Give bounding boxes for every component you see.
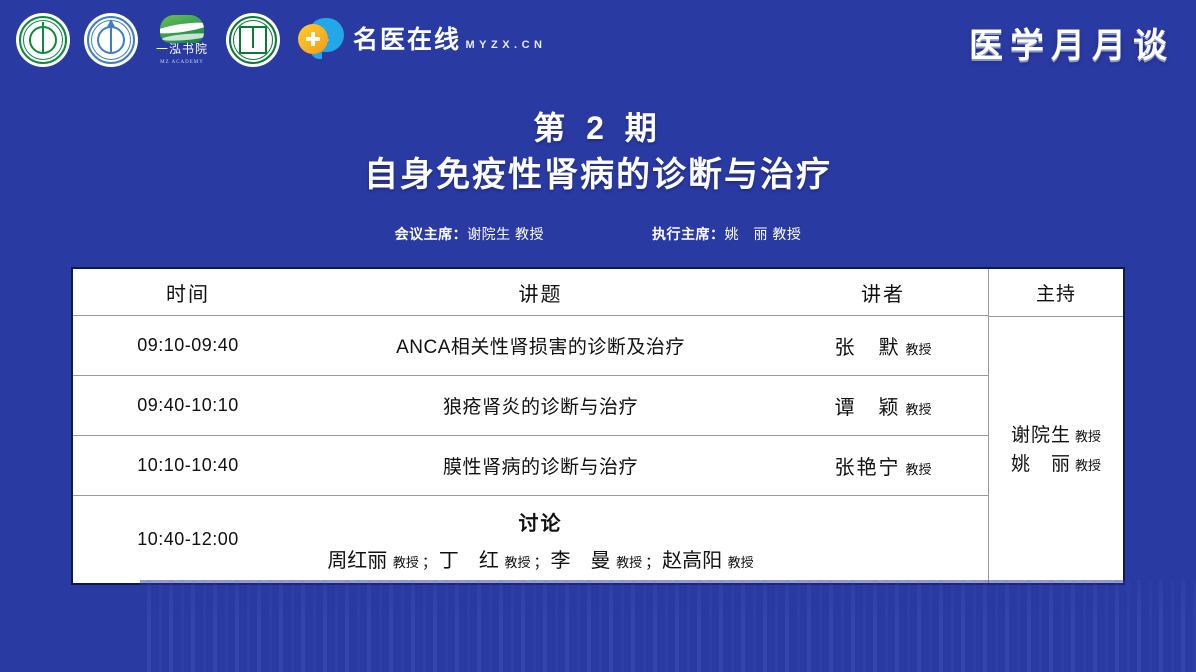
issue-number: 第 2 期 bbox=[0, 108, 1196, 148]
row-speaker-title: 教授 bbox=[905, 342, 931, 357]
logo-myzx: 名医在线 MYZX.CN bbox=[298, 18, 546, 62]
header: 一泓书院 MZ ACADEMY 名医在线 MYZX.CN 医学月月谈 bbox=[0, 0, 1196, 86]
row-speaker: 张艳宁教授 bbox=[778, 451, 988, 480]
row-speaker-name: 张 默 bbox=[834, 337, 900, 359]
table-row: 10:10-10:40 膜性肾病的诊断与治疗 张艳宁教授 bbox=[73, 436, 988, 496]
row-speaker-name: 张艳宁 bbox=[834, 457, 900, 479]
panelist-name: 赵高阳 bbox=[662, 550, 722, 572]
logo-row: 一泓书院 MZ ACADEMY 名医在线 MYZX.CN bbox=[16, 13, 546, 67]
hero: 第 2 期 自身免疫性肾病的诊断与治疗 bbox=[0, 108, 1196, 196]
row-speaker-title: 教授 bbox=[905, 402, 931, 417]
page-title: 自身免疫性肾病的诊断与治疗 bbox=[0, 154, 1196, 196]
host-item: 谢院生教授 bbox=[1011, 420, 1101, 447]
chair-executive: 执行主席：姚 丽 教授 bbox=[652, 224, 801, 244]
panelist-title: 教授 bbox=[728, 555, 754, 570]
row-topic: ANCA相关性肾损害的诊断及治疗 bbox=[303, 332, 778, 359]
chair-executive-label: 执行主席： bbox=[652, 226, 725, 242]
myzx-wordmark-cn: 名医在线 bbox=[353, 26, 461, 54]
row-speaker: 谭 颖教授 bbox=[778, 391, 988, 420]
row-topic: 膜性肾病的诊断与治疗 bbox=[303, 452, 778, 479]
chair-conference: 会议主席：谢院生 教授 bbox=[395, 224, 544, 244]
panelist-name: 丁 红 bbox=[439, 550, 499, 572]
column-header-speaker: 讲者 bbox=[778, 278, 988, 307]
agenda-main-columns: 时间 讲题 讲者 09:10-09:40 ANCA相关性肾损害的诊断及治疗 张 … bbox=[73, 269, 988, 583]
agenda-host-column: 主持 谢院生教授 姚 丽教授 bbox=[988, 269, 1123, 583]
table-row: 09:40-10:10 狼疮肾炎的诊断与治疗 谭 颖教授 bbox=[73, 376, 988, 436]
myzx-wordmark: 名医在线 MYZX.CN bbox=[353, 28, 546, 53]
column-header-time: 时间 bbox=[73, 278, 303, 307]
panelist-title: 教授 bbox=[616, 555, 642, 570]
chair-conference-name: 谢院生 教授 bbox=[467, 226, 544, 242]
logo-academy-icon: 一泓书院 MZ ACADEMY bbox=[152, 13, 212, 67]
decorative-stripes bbox=[140, 580, 1196, 672]
table-row-discussion: 10:40-12:00 讨论 周红丽 教授；丁 红 教授；李 曼 教授；赵高阳 … bbox=[73, 496, 988, 583]
row-time: 10:10-10:40 bbox=[73, 455, 303, 476]
host-title: 教授 bbox=[1075, 458, 1101, 473]
logo-academy-en: MZ ACADEMY bbox=[155, 56, 209, 69]
host-name: 谢院生 bbox=[1011, 425, 1071, 446]
host-item: 姚 丽教授 bbox=[1011, 449, 1101, 476]
agenda-table: 时间 讲题 讲者 09:10-09:40 ANCA相关性肾损害的诊断及治疗 张 … bbox=[71, 267, 1125, 585]
myzx-bubble-icon bbox=[298, 18, 344, 62]
panelist-title: 教授 bbox=[504, 555, 530, 570]
logo-hospital-green-icon bbox=[16, 13, 70, 67]
myzx-wordmark-en: MYZX.CN bbox=[465, 39, 546, 51]
table-row: 09:10-09:40 ANCA相关性肾损害的诊断及治疗 张 默教授 bbox=[73, 316, 988, 376]
discussion-time: 10:40-12:00 bbox=[73, 529, 303, 550]
column-header-host: 主持 bbox=[989, 269, 1123, 317]
discussion-title: 讨论 bbox=[303, 507, 778, 536]
row-speaker-title: 教授 bbox=[905, 462, 931, 477]
panelist-title: 教授 bbox=[393, 555, 419, 570]
row-speaker: 张 默教授 bbox=[778, 331, 988, 360]
discussion-panelists: 周红丽 教授；丁 红 教授；李 曼 教授；赵高阳 教授 bbox=[303, 544, 778, 573]
row-topic: 狼疮肾炎的诊断与治疗 bbox=[303, 392, 778, 419]
host-title: 教授 bbox=[1075, 429, 1101, 444]
row-time: 09:40-10:10 bbox=[73, 395, 303, 416]
poster-root: 一泓书院 MZ ACADEMY 名医在线 MYZX.CN 医学月月谈 bbox=[0, 0, 1196, 672]
panelist-name: 周红丽 bbox=[327, 550, 387, 572]
row-speaker-name: 谭 颖 bbox=[834, 397, 900, 419]
chairs-row: 会议主席：谢院生 教授 执行主席：姚 丽 教授 bbox=[0, 224, 1196, 244]
brand-title: 医学月月谈 bbox=[969, 18, 1174, 67]
host-name: 姚 丽 bbox=[1011, 454, 1071, 475]
chair-conference-label: 会议主席： bbox=[395, 226, 468, 242]
panelist-name: 李 曼 bbox=[551, 550, 611, 572]
discussion-block: 讨论 周红丽 教授；丁 红 教授；李 曼 教授；赵高阳 教授 bbox=[303, 507, 778, 573]
logo-hospital-blue-icon bbox=[84, 13, 138, 67]
row-time: 09:10-09:40 bbox=[73, 335, 303, 356]
host-list: 谢院生教授 姚 丽教授 bbox=[989, 317, 1123, 583]
agenda-header-row: 时间 讲题 讲者 bbox=[73, 269, 988, 316]
chair-executive-name: 姚 丽 教授 bbox=[725, 226, 802, 242]
logo-academy-cn: 一泓书院 bbox=[156, 42, 208, 56]
column-header-topic: 讲题 bbox=[303, 278, 778, 307]
logo-hospital-dark-green-icon bbox=[226, 13, 280, 67]
